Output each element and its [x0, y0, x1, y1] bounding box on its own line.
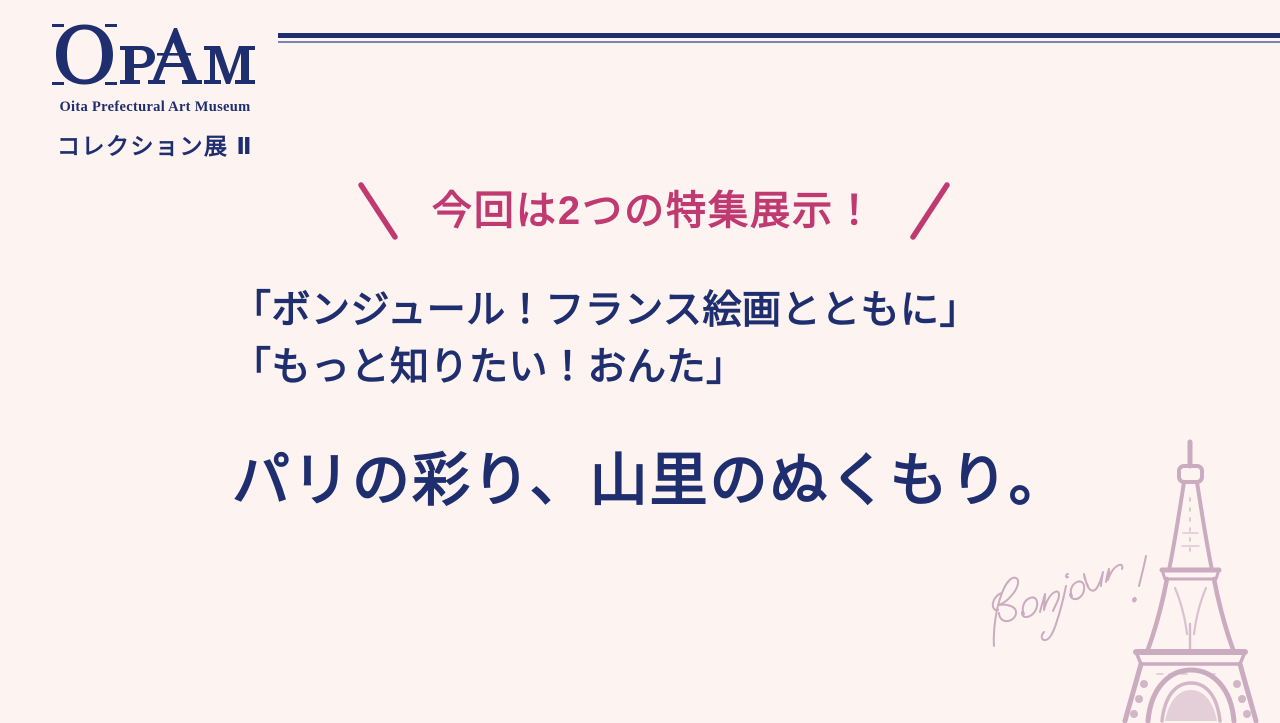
header-rule-thin — [278, 41, 1280, 43]
poster-canvas: Oita Prefectural Art Museum コレクション展 Ⅱ 今回… — [0, 0, 1280, 723]
eiffel-tower-illustration — [1105, 438, 1280, 723]
header-rule — [278, 33, 1280, 44]
exhibition-title: 「もっと知りたい！おんた」 — [232, 340, 979, 397]
opam-logo-block: Oita Prefectural Art Museum コレクション展 Ⅱ — [40, 22, 270, 161]
header-rule-thick — [278, 33, 1280, 38]
opam-wordmark — [50, 22, 260, 94]
headline-row: 今回は2つの特集展示！ — [278, 176, 1030, 246]
exhibition-title-list: 「ボンジュール！フランス絵画とともに」 「もっと知りたい！おんた」 — [232, 283, 979, 396]
slash-mark-icon — [902, 178, 958, 244]
backslash-mark-icon — [350, 178, 406, 244]
logo-subtitle: Oita Prefectural Art Museum — [40, 99, 270, 116]
catchphrase: パリの彩り、山里のぬくもり。 — [232, 448, 1069, 515]
exhibition-title: 「ボンジュール！フランス絵画とともに」 — [232, 283, 979, 340]
logo-series-label: コレクション展 Ⅱ — [40, 127, 270, 161]
headline-text: 今回は2つの特集展示！ — [406, 191, 902, 231]
